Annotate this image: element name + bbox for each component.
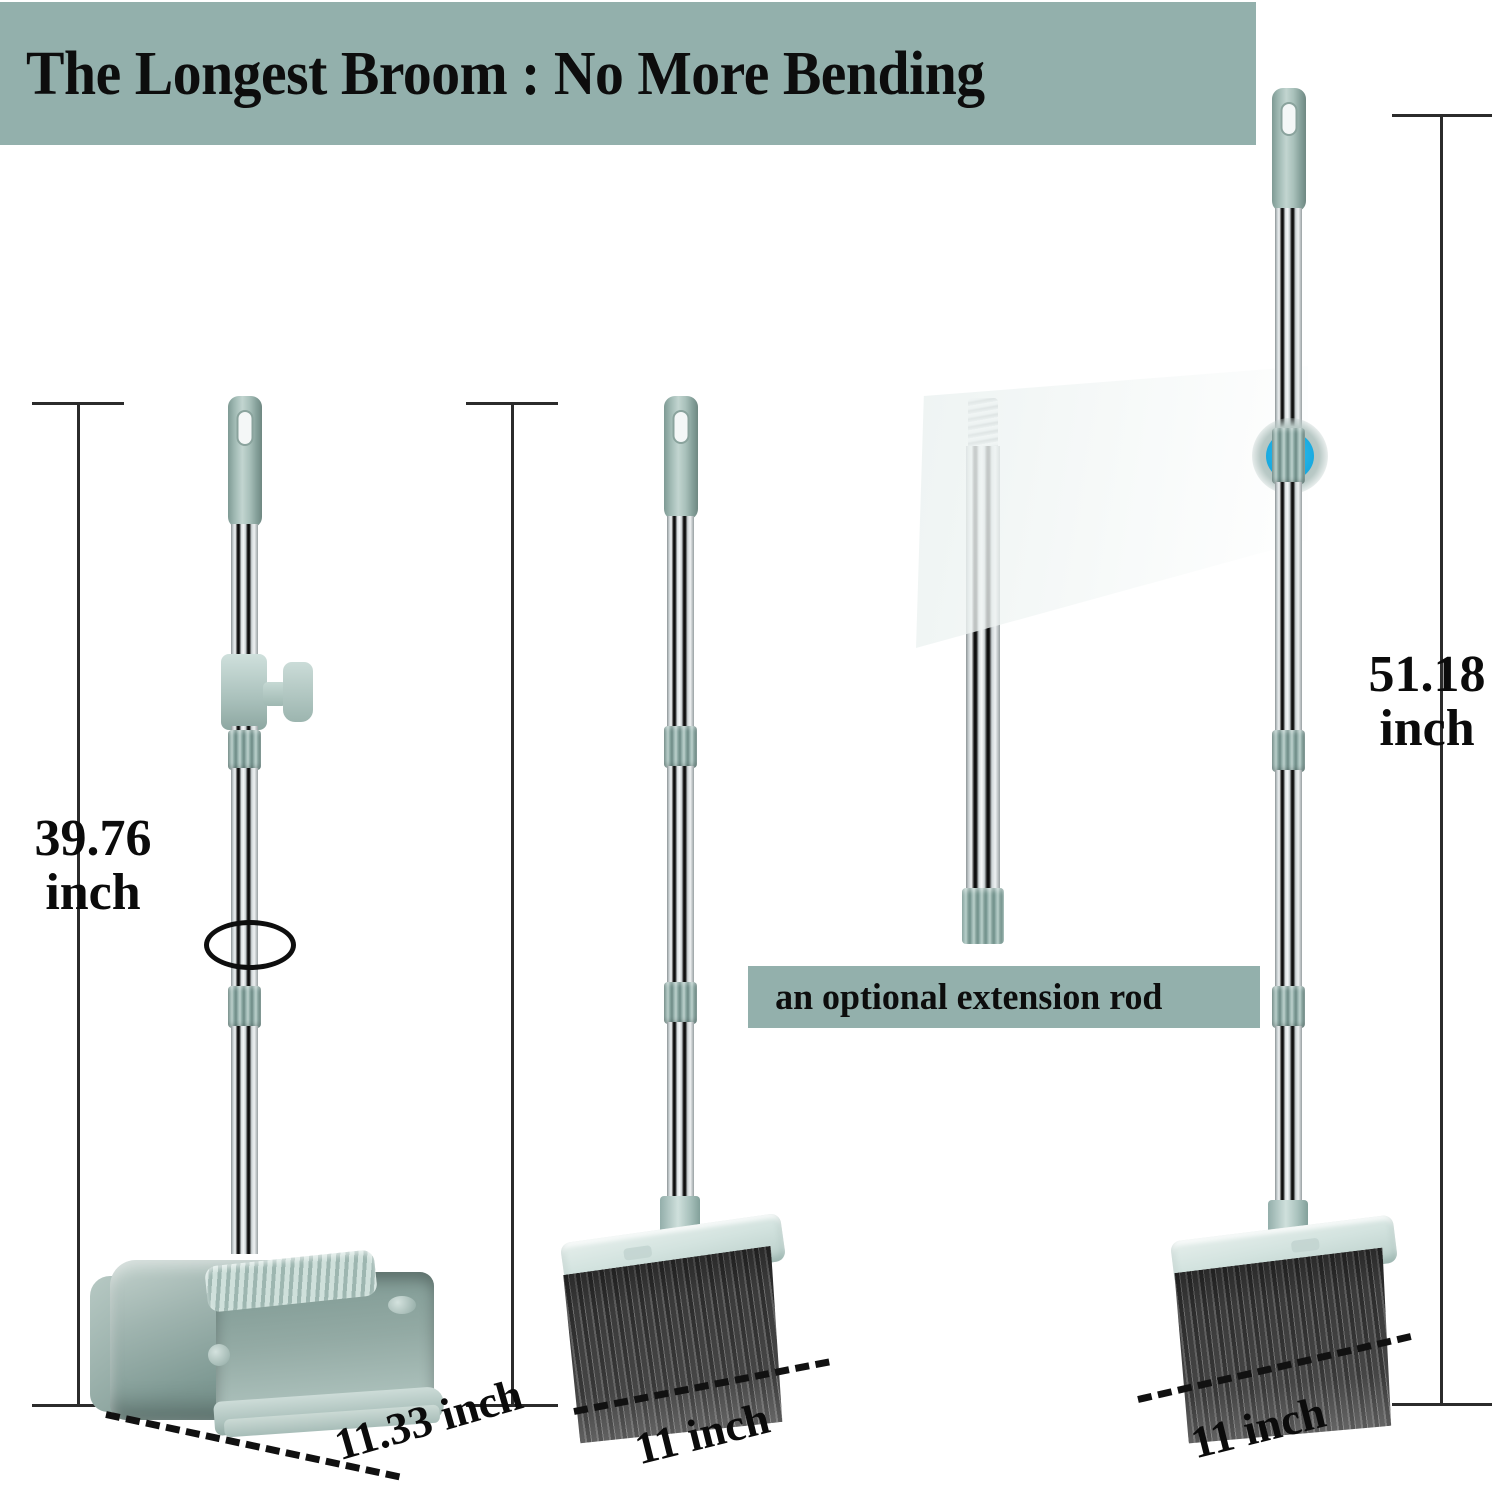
infographic-canvas: The Longest Broom : No More Bending 39.7… [0, 0, 1496, 1500]
extension-rod-callout-banner: an optional extension rod [748, 966, 1260, 1028]
dim-mid-vertical [511, 402, 514, 1407]
broom-pole-lower [667, 1022, 694, 1208]
handle-grip [228, 396, 262, 528]
extended-joint-coupler [1272, 428, 1305, 484]
broom-grip [664, 396, 698, 520]
extended-pole-mid [1275, 770, 1302, 988]
hang-hole-icon [237, 410, 254, 446]
page-title: The Longest Broom : No More Bending [0, 43, 985, 105]
broom-head-nub [1291, 1238, 1320, 1253]
extended-pole-lower [1275, 1026, 1302, 1212]
dimension-label-39-76: 39.76 inch [8, 812, 178, 920]
clip-ring [221, 654, 267, 730]
dimension-label-51-18: 51.18 inch [1352, 648, 1496, 756]
rotation-indicator-icon [204, 920, 296, 970]
pole-coupler-upper [228, 730, 261, 770]
hang-hole-icon [1281, 102, 1298, 136]
hang-hole-icon [673, 410, 690, 444]
broom-pole-upper [667, 516, 694, 728]
steel-pole-lower [231, 1026, 258, 1254]
broom-head-nub [623, 1245, 652, 1261]
extended-pole-upper [1275, 482, 1302, 732]
joint-highlight-beam [916, 348, 1308, 648]
extension-rod-ferrule [962, 888, 1004, 944]
pole-coupler-lower [228, 986, 261, 1028]
extended-coupler-upper [1272, 730, 1305, 772]
title-banner: The Longest Broom : No More Bending [0, 2, 1256, 145]
extended-coupler-lower [1272, 986, 1305, 1028]
broom-coupler-upper [664, 726, 697, 768]
clip-hook [283, 662, 313, 722]
broom-pole-mid [667, 766, 694, 984]
extended-grip [1272, 88, 1306, 212]
extension-rod-label: an optional extension rod [748, 976, 1162, 1019]
broom-coupler-lower [664, 982, 697, 1024]
broom-clip-bracket [221, 654, 313, 730]
dustpan-latch [388, 1296, 416, 1314]
dustpan-pivot-knob [208, 1344, 230, 1366]
